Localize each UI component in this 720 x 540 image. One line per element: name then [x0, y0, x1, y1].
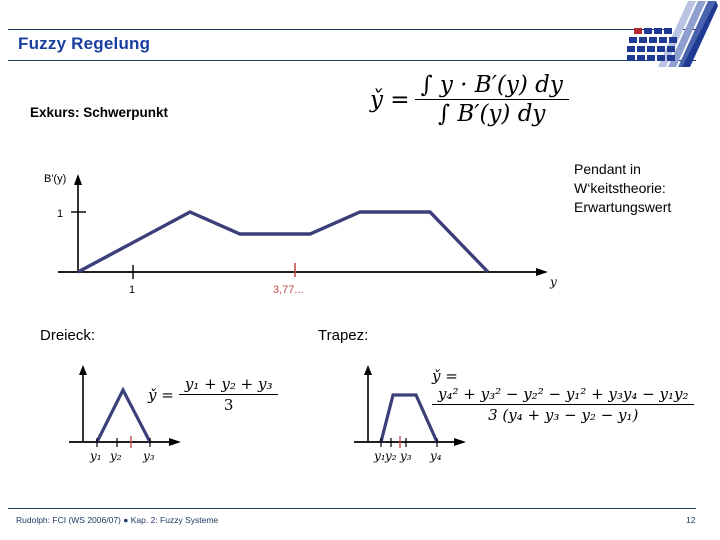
trapezoid-centroid-formula: y̌ =y₄² + y₃² − y₂² − y₁² + y₃y₄ − y₁y₂3… — [432, 366, 720, 424]
chart-x-tick-label-1: 1 — [129, 284, 135, 296]
university-logo — [626, 0, 718, 68]
membership-function-chart: 1 1 3,77... B'(y) y — [30, 160, 560, 305]
triangle-section-heading: Dreieck: — [40, 327, 95, 344]
trapezoid-formula-numerator: y₄² + y₃² − y₂² − y₁² + y₃y₄ − y₁y₂ — [432, 385, 694, 404]
trapezoid-x-axis-arrow — [454, 438, 466, 446]
trapezoid-axis-label-y2: y₂ — [384, 449, 397, 463]
chart-y-axis-label: B'(y) — [44, 173, 66, 185]
formula-denominator: ∫ B′(y) dy — [415, 99, 569, 127]
trapezoid-axis-label-y3: y₃ — [399, 449, 412, 463]
triangle-formula-numerator: y₁ + y₂ + y₃ — [179, 375, 279, 394]
formula-lhs: y̌ = — [370, 87, 415, 113]
formula-fraction: ∫ y · B′(y) dy∫ B′(y) dy — [415, 72, 569, 127]
chart-y-tick-label-1: 1 — [57, 208, 63, 220]
triangle-formula-denominator: 3 — [179, 394, 279, 414]
chart-centroid-label: 3,77... — [273, 284, 304, 296]
pendant-note-line-2: W‘keitstheorie: — [574, 179, 671, 198]
footer-text: Rudolph: FCI (WS 2006/07) ● Kap. 2: Fuzz… — [16, 515, 218, 525]
footer-rule — [8, 508, 696, 509]
pendant-note: Pendant in W‘keitstheorie: Erwartungswer… — [574, 160, 671, 217]
excursus-label: Exkurs: Schwerpunkt — [30, 105, 168, 120]
logo-red-square — [634, 28, 642, 34]
trapezoid-formula-lhs: y̌ = — [432, 367, 463, 385]
centroid-formula: y̌ =∫ y · B′(y) dy∫ B′(y) dy — [370, 72, 569, 127]
trapezoid-axis-label-y4: y₄ — [429, 449, 442, 463]
header-rule-top — [8, 29, 696, 30]
chart-x-axis-label: y — [549, 275, 557, 289]
trapezoid-formula-fraction: y₄² + y₃² − y₂² − y₁² + y₃y₄ − y₁y₂3 (y₄… — [432, 385, 694, 424]
formula-numerator: ∫ y · B′(y) dy — [415, 72, 569, 99]
trapezoid-section-heading: Trapez: — [318, 327, 368, 344]
trapezoid-curve — [381, 395, 437, 442]
chart-curve — [78, 212, 488, 272]
triangle-x-axis-arrow — [169, 438, 181, 446]
triangle-axis-label-y3: y₃ — [142, 449, 155, 463]
header-rule-bottom — [8, 60, 696, 61]
triangle-formula-lhs: y̌ = — [148, 386, 179, 404]
triangle-centroid-formula: y̌ =y₁ + y₂ + y₃3 — [148, 375, 278, 414]
pendant-note-line-3: Erwartungswert — [574, 198, 671, 217]
page-title: Fuzzy Regelung — [18, 34, 150, 54]
pendant-note-line-1: Pendant in — [574, 160, 671, 179]
triangle-curve — [97, 390, 150, 442]
trapezoid-formula-denominator: 3 (y₄ + y₃ − y₂ − y₁) — [432, 404, 694, 424]
triangle-axis-label-y2: y₂ — [109, 449, 122, 463]
trapezoid-axis-label-y1: y₁ — [373, 449, 386, 463]
y-axis-arrow — [74, 174, 82, 185]
x-axis-arrow — [536, 268, 548, 276]
slide-header: Fuzzy Regelung — [0, 0, 720, 70]
triangle-axis-label-y1: y₁ — [89, 449, 102, 463]
trapezoid-y-axis-arrow — [364, 365, 372, 375]
triangle-y-axis-arrow — [79, 365, 87, 375]
footer-page-number: 12 — [686, 515, 695, 525]
triangle-formula-fraction: y₁ + y₂ + y₃3 — [179, 375, 279, 414]
